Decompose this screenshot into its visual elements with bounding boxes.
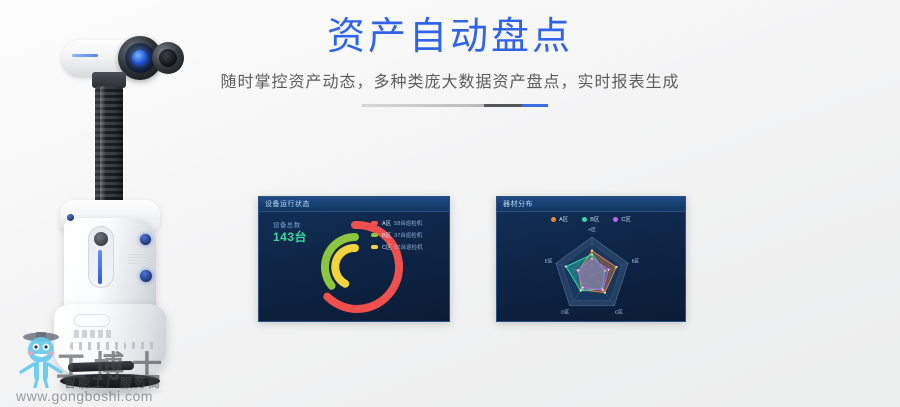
panel-left-title: 设备运行状态	[265, 198, 310, 211]
radar-axis-label-A区: A区	[588, 227, 596, 232]
radar-legend-swatch-c	[613, 217, 618, 222]
robot-left-sensor	[67, 214, 74, 221]
legend-item: C区 52台巡检机	[371, 243, 423, 251]
robot-front-sensor-dot	[94, 232, 108, 246]
robot-front-led-bar	[98, 250, 102, 284]
panel-right-title: 器材分布	[503, 198, 533, 211]
robot-secondary-camera-inner	[159, 49, 177, 67]
device-status-legend: A区 58台巡检机 B区 37台巡检机 C区 52台巡检机	[371, 219, 423, 255]
robot-main-camera-lens-glow	[132, 50, 148, 66]
robot-base-badge	[74, 314, 110, 327]
legend-value-a: 58台巡检机	[394, 219, 422, 227]
legend-item: A区 58台巡检机	[371, 219, 423, 227]
arc-series-c	[335, 248, 355, 284]
robot-head-led-strip	[72, 54, 98, 57]
robot-neck-highlight	[100, 86, 106, 206]
inspection-robot-image	[40, 18, 190, 398]
device-total-value: 143台	[273, 228, 307, 245]
legend-item: C区	[613, 215, 630, 223]
robot-ground-shadow	[52, 386, 168, 398]
radar-legend-name-a: A区	[559, 215, 568, 223]
robot-vent-grille	[128, 254, 148, 264]
robot-base-sensor-array-right	[132, 342, 154, 349]
robot-base-sensor-array	[70, 342, 126, 350]
legend-name-b: B区	[382, 231, 391, 239]
legend-item: A区	[551, 215, 568, 223]
radar-axis-label-C区: C区	[615, 310, 623, 315]
equipment-distribution-radar-chart: A区B区C区D区E区	[511, 223, 673, 319]
divider-segment-light	[362, 104, 484, 107]
robot-base-text-mark	[74, 330, 114, 338]
dashboard-panel-device-status[interactable]: 设备运行状态 设备总数 143台 A区 58台巡检机 B区 37台巡检机 C区 …	[258, 196, 450, 322]
legend-name-a: A区	[382, 219, 391, 227]
radar-legend-name-b: B区	[590, 215, 599, 223]
dashboard-panel-equipment-distribution[interactable]: 器材分布 A区 B区 C区 A区B区C区D区E区	[496, 196, 686, 322]
legend-value-b: 37台巡检机	[394, 231, 422, 239]
radar-axis-label-B区: B区	[632, 259, 640, 264]
robot-side-sensor-lower	[140, 270, 152, 282]
radar-axis-label-D区: D区	[561, 310, 569, 315]
divider-segment-accent	[522, 104, 548, 107]
legend-swatch-a	[371, 221, 378, 225]
robot-side-sensor-upper	[140, 234, 151, 245]
divider-segment-dark	[484, 104, 522, 107]
radar-legend: A区 B区 C区	[497, 215, 685, 223]
title-divider	[362, 104, 548, 107]
legend-swatch-b	[371, 233, 378, 237]
radar-legend-name-c: C区	[621, 215, 630, 223]
legend-swatch-c	[371, 245, 378, 249]
legend-value-c: 52台巡检机	[394, 243, 422, 251]
legend-item: B区	[582, 215, 599, 223]
legend-item: B区 37台巡检机	[371, 231, 423, 239]
radar-legend-swatch-a	[551, 217, 556, 222]
legend-name-c: C区	[382, 243, 391, 251]
radar-axis-label-E区: E区	[545, 259, 553, 264]
radar-legend-swatch-b	[582, 217, 587, 222]
